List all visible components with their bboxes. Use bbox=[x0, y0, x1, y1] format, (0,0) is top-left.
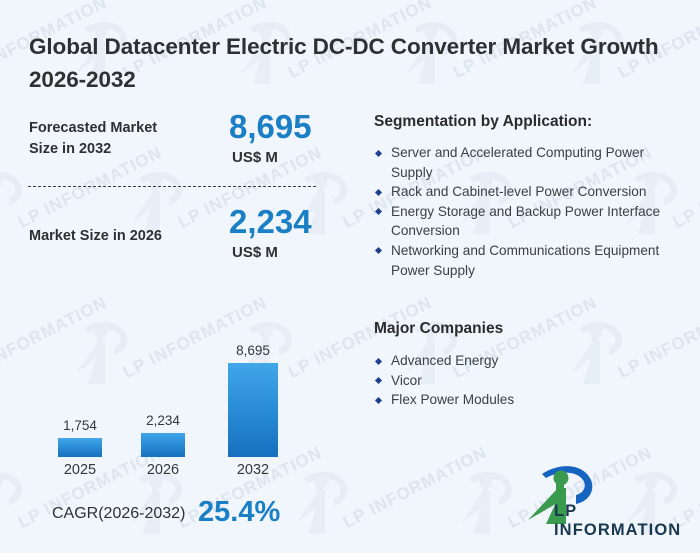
list-item-label: Vicor bbox=[391, 373, 422, 388]
list-item-label: Networking and Communications Equipment … bbox=[391, 243, 659, 278]
list-item: Server and Accelerated Computing Power S… bbox=[374, 143, 674, 182]
segmentation-list: Server and Accelerated Computing Power S… bbox=[374, 143, 674, 280]
list-item-label: Flex Power Modules bbox=[391, 392, 514, 407]
infographic-page: LP INFORMATIONLP INFORMATIONLP INFORMATI… bbox=[0, 0, 700, 553]
bar-category-2026: 2026 bbox=[118, 462, 208, 478]
companies-heading: Major Companies bbox=[374, 320, 503, 338]
companies-list: Advanced EnergyVicorFlex Power Modules bbox=[374, 351, 674, 410]
bar-value-2032: 8,695 bbox=[208, 343, 298, 358]
cagr-value: 25.4% bbox=[198, 496, 280, 529]
stat-value-2032: 8,695 bbox=[229, 110, 312, 144]
list-item-label: Energy Storage and Backup Power Interfac… bbox=[391, 204, 660, 239]
bar-2026 bbox=[141, 433, 185, 457]
stat-label-2026: Market Size in 2026 bbox=[29, 226, 162, 247]
list-item: Energy Storage and Backup Power Interfac… bbox=[374, 202, 674, 241]
segmentation-heading: Segmentation by Application: bbox=[374, 113, 592, 131]
list-item: Flex Power Modules bbox=[374, 390, 674, 410]
stat-label-forecast-line2: Size in 2032 bbox=[29, 139, 157, 160]
stat-unit-2032: US$ M bbox=[232, 149, 278, 166]
bar-value-2026: 2,234 bbox=[118, 413, 208, 428]
bullet-diamond-icon bbox=[375, 149, 382, 156]
cagr-label: CAGR(2026-2032) bbox=[52, 505, 185, 523]
bar-2025 bbox=[58, 438, 102, 457]
list-item-label: Advanced Energy bbox=[391, 353, 498, 368]
bullet-diamond-icon bbox=[375, 208, 382, 215]
bullet-diamond-icon bbox=[375, 189, 382, 196]
list-item: Advanced Energy bbox=[374, 351, 674, 371]
logo: LP INFORMATION bbox=[516, 462, 688, 534]
bar-2032 bbox=[228, 363, 278, 457]
list-item: Networking and Communications Equipment … bbox=[374, 241, 674, 280]
logo-text: LP INFORMATION bbox=[554, 502, 688, 540]
list-item: Rack and Cabinet-level Power Conversion bbox=[374, 182, 674, 202]
page-title: Global Datacenter Electric DC-DC Convert… bbox=[29, 30, 669, 96]
stat-label-forecast: Forecasted Market Size in 2032 bbox=[29, 118, 157, 160]
bar-value-2025: 1,754 bbox=[35, 418, 125, 433]
list-item-label: Server and Accelerated Computing Power S… bbox=[391, 145, 644, 180]
stat-label-forecast-line1: Forecasted Market bbox=[29, 118, 157, 139]
list-item-label: Rack and Cabinet-level Power Conversion bbox=[391, 184, 646, 199]
list-item: Vicor bbox=[374, 371, 674, 391]
bullet-diamond-icon bbox=[375, 247, 382, 254]
stat-divider bbox=[28, 186, 316, 187]
stat-unit-2026: US$ M bbox=[232, 244, 278, 261]
stat-value-2026: 2,234 bbox=[229, 205, 312, 239]
bar-category-2025: 2025 bbox=[35, 462, 125, 478]
bar-category-2032: 2032 bbox=[208, 462, 298, 478]
bullet-diamond-icon bbox=[375, 397, 382, 404]
bullet-diamond-icon bbox=[375, 357, 382, 364]
bullet-diamond-icon bbox=[375, 377, 382, 384]
